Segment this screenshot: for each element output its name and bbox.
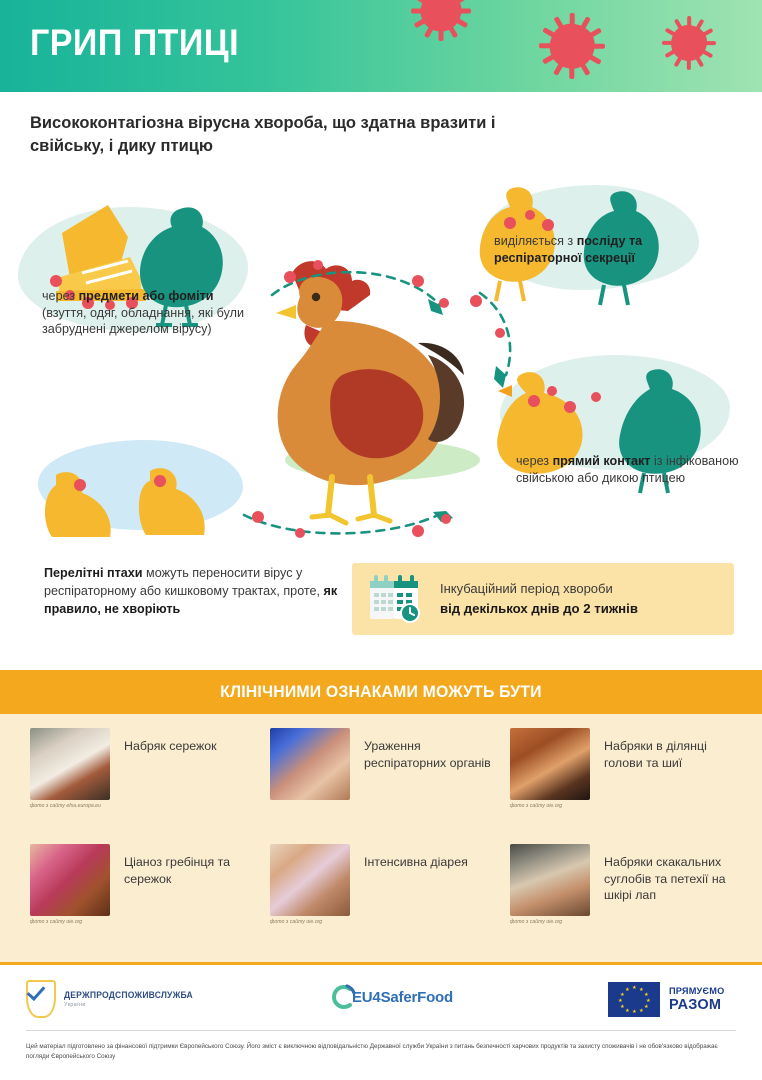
photo-credit: фото з сайту oie.org — [510, 803, 594, 810]
comb-cyanosis-photo — [30, 844, 110, 916]
direct-bold: прямий контакт — [553, 454, 651, 468]
respiratory-lesion-photo — [270, 728, 350, 800]
derzhprodspozhyvsluzhba-logo: ДЕРЖПРОДСПОЖИВСЛУЖБА України — [26, 980, 200, 1018]
sign-thumb-wrap: фото з сайту oie.org — [30, 844, 114, 926]
incubation-line1: Інкубаційний період хвороби — [440, 580, 638, 599]
diarrhea-photo — [270, 844, 350, 916]
sign-thumb-wrap — [270, 728, 354, 803]
clinical-sign-item: фото з сайту oie.org Інтенсивна діарея — [270, 844, 502, 954]
sign-thumb-wrap: фото з сайту oie.org — [510, 728, 594, 810]
infographic-page: ГРИП ПТИЦІ Висококонтагіозна вірусна хво… — [0, 0, 762, 1080]
eu-logo: ★ ★ ★ ★ ★ ★ ★ ★ ★ ★ ★ ★ ПРЯМУЄМО РАЗОМ — [608, 982, 724, 1017]
sign-label: Ураження респіраторних органів — [364, 728, 502, 771]
main-chicken-illustration — [276, 261, 464, 523]
migratory-birds-text: Перелітні птахи можуть переносити вірус … — [44, 565, 344, 619]
disclaimer-divider — [26, 1030, 736, 1031]
sign-thumb-wrap: фото з сайту oie.org — [270, 844, 354, 926]
hock-swelling-photo — [510, 844, 590, 916]
arrow-head — [433, 511, 453, 522]
transmission-arrow — [272, 272, 440, 305]
page-header: ГРИП ПТИЦІ — [0, 0, 762, 92]
derzh-subtitle: України — [64, 1002, 200, 1008]
derzh-name: ДЕРЖПРОДСПОЖИВСЛУЖБА — [64, 990, 193, 1000]
ground-ellipse — [285, 440, 480, 480]
virus-icon — [408, 0, 474, 44]
clinical-sign-item: фото з сайту oie.org Набряки в ділянці г… — [510, 728, 742, 838]
secretion-lead: виділяється з — [494, 234, 577, 248]
derzh-text-block: ДЕРЖПРОДСПОЖИВСЛУЖБА України — [64, 990, 200, 1008]
clinical-sign-item: фото з сайту efsa.europa.eu Набряк сереж… — [30, 728, 262, 838]
clinical-sign-item: фото з сайту oie.org Ціаноз гребінця та … — [30, 844, 262, 954]
direct-contact-caption: через прямий контакт із інфікованою свій… — [516, 453, 741, 486]
eu-flag-icon: ★ ★ ★ ★ ★ ★ ★ ★ ★ ★ ★ ★ — [608, 982, 660, 1017]
migratory-bold-start: Перелітні птахи — [44, 566, 143, 580]
clinical-signs-title: КЛІНІЧНИМИ ОЗНАКАМИ МОЖУТЬ БУТИ — [220, 682, 542, 702]
eu4saferfood-name: EU4SaferFood — [352, 989, 453, 1006]
eu-line1: ПРЯМУЄМО — [669, 986, 724, 996]
fomite-bold: предмети або фоміти — [79, 289, 214, 303]
clinical-signs-grid: фото з сайту efsa.europa.eu Набряк сереж… — [30, 728, 742, 954]
photo-credit: фото з сайту oie.org — [30, 919, 114, 926]
fomite-lead: через — [42, 289, 79, 303]
sign-label: Набряки скакальних суглобів та петехії н… — [604, 844, 742, 904]
clinical-signs-banner: КЛІНІЧНИМИ ОЗНАКАМИ МОЖУТЬ БУТИ — [0, 670, 762, 714]
fomite-rest: (взуття, одяг, обладнання, які були забр… — [42, 306, 244, 337]
clinical-sign-item: Ураження респіраторних органів — [270, 728, 502, 838]
incubation-period-box: Інкубаційний період хвороби від декілько… — [352, 563, 734, 635]
incubation-line2: від декількох днів до 2 тижнів — [440, 601, 638, 616]
photo-credit: фото з сайту oie.org — [510, 919, 594, 926]
page-footer: ДЕРЖПРОДСПОЖИВСЛУЖБА України EU4SaferFoo… — [0, 962, 762, 1080]
photo-credit: фото з сайту oie.org — [270, 919, 354, 926]
arrow-head — [494, 366, 506, 388]
intro-text: Висококонтагіозна вірусна хвороба, що зд… — [30, 112, 500, 159]
sign-label: Ціаноз гребінця та сережок — [124, 844, 262, 887]
sign-label: Набряки в ділянці голови та шиї — [604, 728, 742, 771]
footer-divider — [0, 962, 762, 965]
sign-label: Інтенсивна діарея — [364, 844, 468, 871]
eu4saferfood-logo: EU4SaferFood — [330, 984, 453, 1010]
check-mark — [27, 982, 46, 1001]
secretion-caption: виділяється з посліду та респіраторної с… — [494, 233, 709, 266]
virus-icon — [536, 10, 608, 82]
eu-text-block: ПРЯМУЄМО РАЗОМ — [669, 986, 724, 1013]
clinical-sign-item: фото з сайту oie.org Набряки скакальних … — [510, 844, 742, 954]
head-neck-swelling-photo — [510, 728, 590, 800]
transmission-arrow — [244, 511, 446, 533]
sign-label: Набряк сережок — [124, 728, 217, 755]
blob-shape — [38, 440, 243, 530]
virus-icon — [660, 14, 718, 72]
eu-line2: РАЗОМ — [669, 997, 724, 1013]
direct-lead: через — [516, 454, 553, 468]
sign-thumb-wrap: фото з сайту oie.org — [510, 844, 594, 926]
transmission-illustration: через предмети або фоміти (взуття, одяг,… — [0, 185, 762, 565]
clinical-signs-section: фото з сайту efsa.europa.eu Набряк сереж… — [0, 714, 762, 962]
fomite-caption: через предмети або фоміти (взуття, одяг,… — [42, 288, 247, 338]
arrow-head — [428, 299, 443, 315]
disclaimer-text: Цей матеріал підготовлено за фінансової … — [26, 1042, 738, 1062]
swollen-wattles-photo — [30, 728, 110, 800]
page-title: ГРИП ПТИЦІ — [30, 22, 239, 64]
sign-thumb-wrap: фото з сайту efsa.europa.eu — [30, 728, 114, 810]
transmission-arrow — [480, 293, 510, 375]
incubation-text: Інкубаційний період хвороби від декілько… — [440, 580, 638, 619]
photo-credit: фото з сайту efsa.europa.eu — [30, 803, 114, 810]
shield-check-icon — [26, 980, 56, 1018]
calendar-clock-icon — [368, 573, 424, 625]
